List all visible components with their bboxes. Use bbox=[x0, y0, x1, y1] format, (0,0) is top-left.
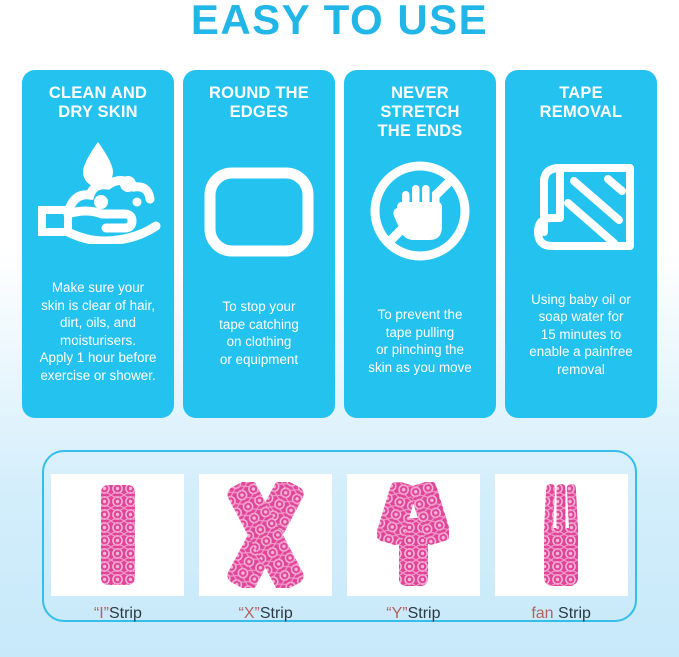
strip-label: “Y”Strip bbox=[386, 605, 440, 623]
strip-thumbnail bbox=[199, 474, 332, 596]
card-heading: NEVER STRETCH THE ENDS bbox=[377, 84, 462, 141]
strip-label: “I”Strip bbox=[94, 605, 142, 623]
card-body: To prevent the tape pulling or pinching … bbox=[368, 306, 471, 406]
strip-item-i: “I”Strip bbox=[51, 474, 184, 623]
strip-label-suffix: Strip bbox=[109, 605, 142, 622]
hand-wash-water-drop-icon bbox=[34, 132, 162, 244]
card-body: To stop your tape catching on clothing o… bbox=[219, 298, 299, 406]
card-heading: CLEAN AND DRY SKIN bbox=[49, 84, 147, 122]
card-round-the-edges: ROUND THE EDGES To stop your tape catchi… bbox=[183, 70, 335, 418]
strip-label-suffix: Strip bbox=[260, 605, 293, 622]
peeling-tape-icon bbox=[522, 148, 640, 258]
strip-label-accent: “I” bbox=[94, 605, 109, 622]
i-strip-icon bbox=[98, 482, 138, 588]
instruction-cards-row: CLEAN AND DRY SKIN Make sure your skin i… bbox=[22, 70, 657, 418]
strip-label: fan Strip bbox=[531, 605, 591, 623]
strip-item-y: “Y”Strip bbox=[347, 474, 480, 623]
no-stretch-hand-prohibition-icon bbox=[364, 155, 476, 267]
x-strip-icon bbox=[218, 482, 314, 588]
y-strip-icon bbox=[377, 482, 449, 588]
card-body: Using baby oil or soap water for 15 minu… bbox=[529, 291, 633, 407]
card-heading: TAPE REMOVAL bbox=[540, 84, 623, 122]
strip-thumbnail bbox=[51, 474, 184, 596]
strip-label-suffix: Strip bbox=[408, 605, 441, 622]
card-heading: ROUND THE EDGES bbox=[209, 84, 309, 122]
strip-item-fan: fan Strip bbox=[495, 474, 628, 623]
strip-label-accent: fan bbox=[531, 605, 553, 622]
strip-label-accent: “X” bbox=[239, 605, 260, 622]
strip-label: “X”Strip bbox=[239, 605, 293, 623]
card-clean-and-dry-skin: CLEAN AND DRY SKIN Make sure your skin i… bbox=[22, 70, 174, 418]
strip-types-panel: “I”Strip bbox=[42, 450, 637, 622]
strip-thumbnail bbox=[495, 474, 628, 596]
card-tape-removal: TAPE REMOVAL Using baby oil or soap wate… bbox=[505, 70, 657, 418]
card-never-stretch-the-ends: NEVER STRETCH THE ENDS To prevent the ta… bbox=[344, 70, 496, 418]
strip-label-suffix: Strip bbox=[554, 605, 591, 622]
strip-item-x: “X”Strip bbox=[199, 474, 332, 623]
card-body: Make sure your skin is clear of hair, di… bbox=[40, 279, 157, 406]
rounded-rectangle-icon bbox=[203, 166, 315, 258]
page-title: EASY TO USE bbox=[0, 0, 679, 40]
fan-strip-icon bbox=[538, 482, 584, 588]
strip-thumbnail bbox=[347, 474, 480, 596]
strip-label-accent: “Y” bbox=[386, 605, 407, 622]
